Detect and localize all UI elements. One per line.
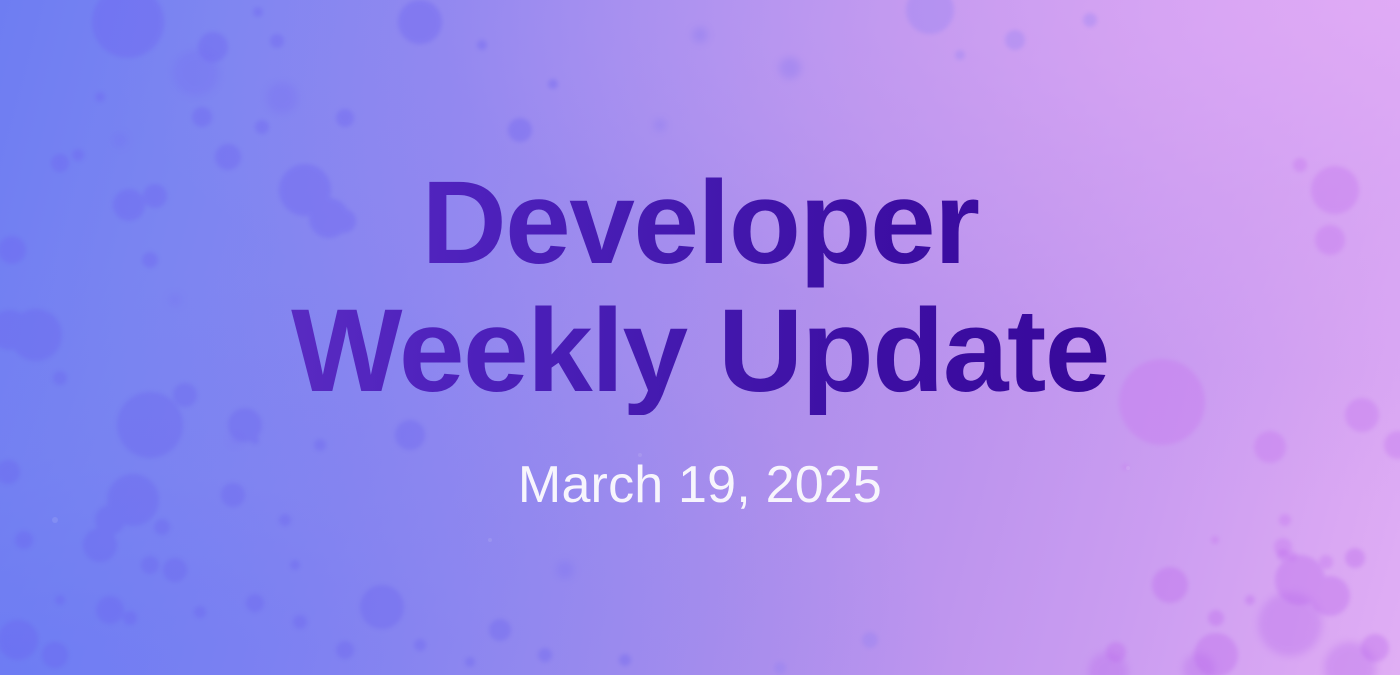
page-title: Developer Weekly Update — [291, 160, 1109, 415]
page-title-line-2: Weekly Update — [291, 288, 1109, 415]
banner-content: Developer Weekly Update March 19, 2025 — [0, 0, 1400, 675]
banner: Developer Weekly Update March 19, 2025 — [0, 0, 1400, 675]
issue-date: March 19, 2025 — [518, 455, 882, 515]
page-title-line-1: Developer — [291, 160, 1109, 287]
